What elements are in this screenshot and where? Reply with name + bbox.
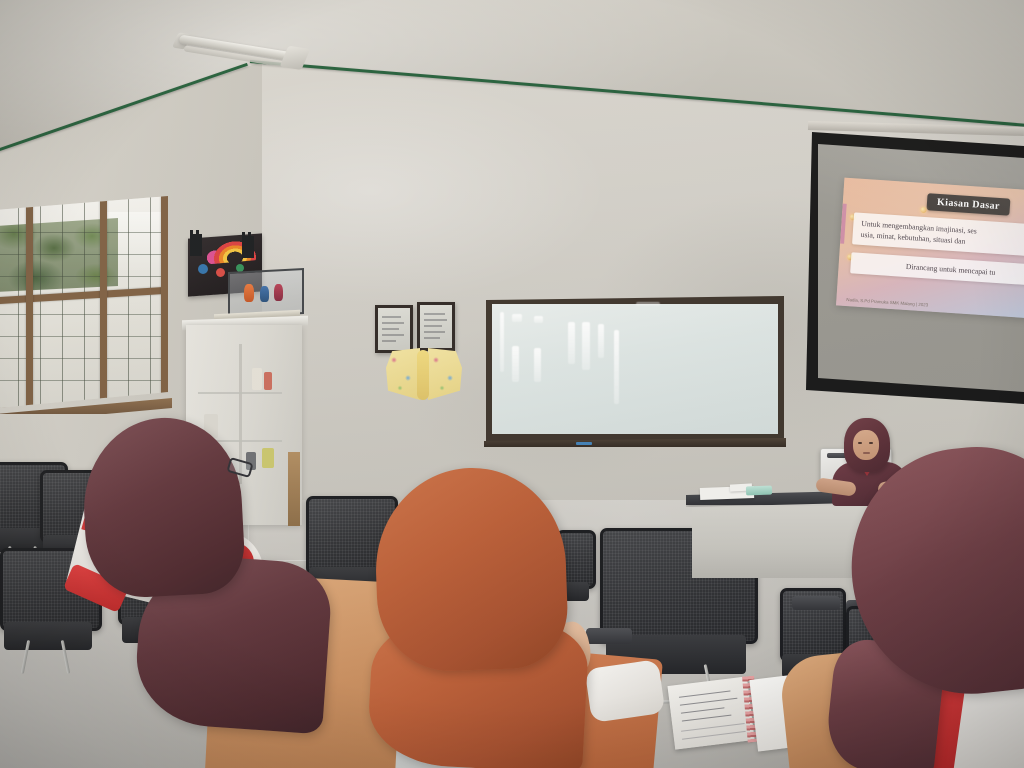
student-left: [60, 418, 360, 768]
window-grid-line: [40, 196, 41, 408]
student-center-hijab: [373, 465, 570, 674]
certificate-text-line: [424, 319, 447, 321]
butterfly-paper-decoration: [386, 348, 462, 402]
whiteboard-reflection: [534, 316, 543, 323]
slide-title: Kiasan Dasar: [926, 193, 1010, 215]
craft-figure: [244, 284, 254, 302]
student-center: [350, 468, 660, 768]
projection-screen: Kiasan Dasar Untuk mengembangkan imajina…: [806, 132, 1024, 414]
notebook-handwriting: [682, 715, 732, 722]
slide-accent-bar: [840, 204, 847, 244]
marker[interactable]: [576, 442, 592, 445]
butterfly-wing-right: [428, 348, 462, 400]
whiteboard-reflection: [582, 322, 590, 370]
craft-tower-left: [190, 234, 202, 256]
certificate-paper: [378, 308, 410, 350]
slide-bullet-card-1: Untuk mengembangkan imajinasi, ses usia,…: [852, 212, 1024, 257]
slide-bullet-dot: [920, 207, 926, 213]
presenter-eye-left: [858, 442, 862, 444]
whiteboard-reflection: [614, 330, 619, 404]
certificate-text-line: [424, 331, 445, 333]
whiteboard-reflection: [512, 346, 519, 382]
certificate-text-line: [382, 322, 404, 324]
certificate-text-line: [382, 340, 396, 342]
craft-ornament: [198, 264, 208, 274]
certificate-text-line: [424, 337, 440, 339]
window-mullion: [26, 196, 33, 408]
slide-footer: Nadia, S.Pd Pramuka SMK Malang | 2023: [846, 297, 928, 307]
whiteboard-reflection: [512, 314, 522, 322]
craft-rainbow-arch: [205, 230, 263, 265]
window-grid-line: [150, 196, 151, 408]
desk-item-mint[interactable]: [746, 486, 772, 496]
certificate-text-line: [382, 316, 401, 318]
student-center-sleeve: [585, 659, 666, 723]
whiteboard-reflection: [500, 312, 504, 372]
framed-certificate-left: [375, 305, 413, 353]
student-right: [770, 452, 1024, 768]
whiteboard[interactable]: [486, 296, 792, 452]
craft-figure: [274, 284, 283, 301]
whiteboard-reflection: [534, 348, 541, 382]
craft-ornament: [216, 268, 225, 277]
cabinet-shelf: [198, 392, 282, 394]
window-grid-line: [128, 196, 129, 408]
student-left-hijab: [79, 414, 246, 600]
classroom-window: [0, 196, 168, 408]
slide-bullet-card-2: Dirancang untuk mencapai tu: [850, 252, 1024, 286]
certificate-text-line: [424, 313, 445, 315]
cabinet-contents: [252, 368, 262, 390]
certificate-text-line: [382, 334, 404, 336]
butterfly-body: [417, 350, 429, 400]
certificate-text-line: [424, 325, 443, 327]
framed-certificate-right: [417, 302, 455, 351]
butterfly-wing-left: [386, 348, 420, 400]
cabinet-contents: [264, 372, 272, 390]
craft-figure: [260, 286, 269, 302]
window-mullion: [161, 196, 168, 408]
notebook-handwriting: [681, 707, 725, 714]
whiteboard-reflection: [598, 324, 604, 358]
notebook-handwriting: [679, 690, 731, 698]
certificate-text-line: [382, 328, 400, 330]
notebook-left-page: [667, 676, 754, 749]
craft-display: [184, 228, 304, 324]
certificate-paper: [420, 305, 452, 348]
window-grid-line: [62, 196, 63, 408]
classroom-photo: Kiasan Dasar Untuk mengembangkan imajina…: [0, 0, 1024, 768]
projection-screen-canvas: Kiasan Dasar Untuk mengembangkan imajina…: [818, 142, 1024, 392]
whiteboard-reflection: [568, 322, 575, 364]
window-grid-line: [84, 196, 85, 408]
whiteboard-reflection: [636, 302, 660, 306]
slide-bullet-line-3: Dirancang untuk mencapai tu: [858, 258, 1024, 281]
presenter-eye-right: [869, 442, 873, 444]
notebook-rule-line: [682, 731, 746, 740]
craft-tower-right: [242, 236, 254, 258]
presentation-slide: Kiasan Dasar Untuk mengembangkan imajina…: [836, 178, 1024, 319]
notebook-handwriting: [680, 698, 738, 706]
notebook-rule-line: [681, 723, 745, 732]
window-mullion: [100, 196, 107, 408]
